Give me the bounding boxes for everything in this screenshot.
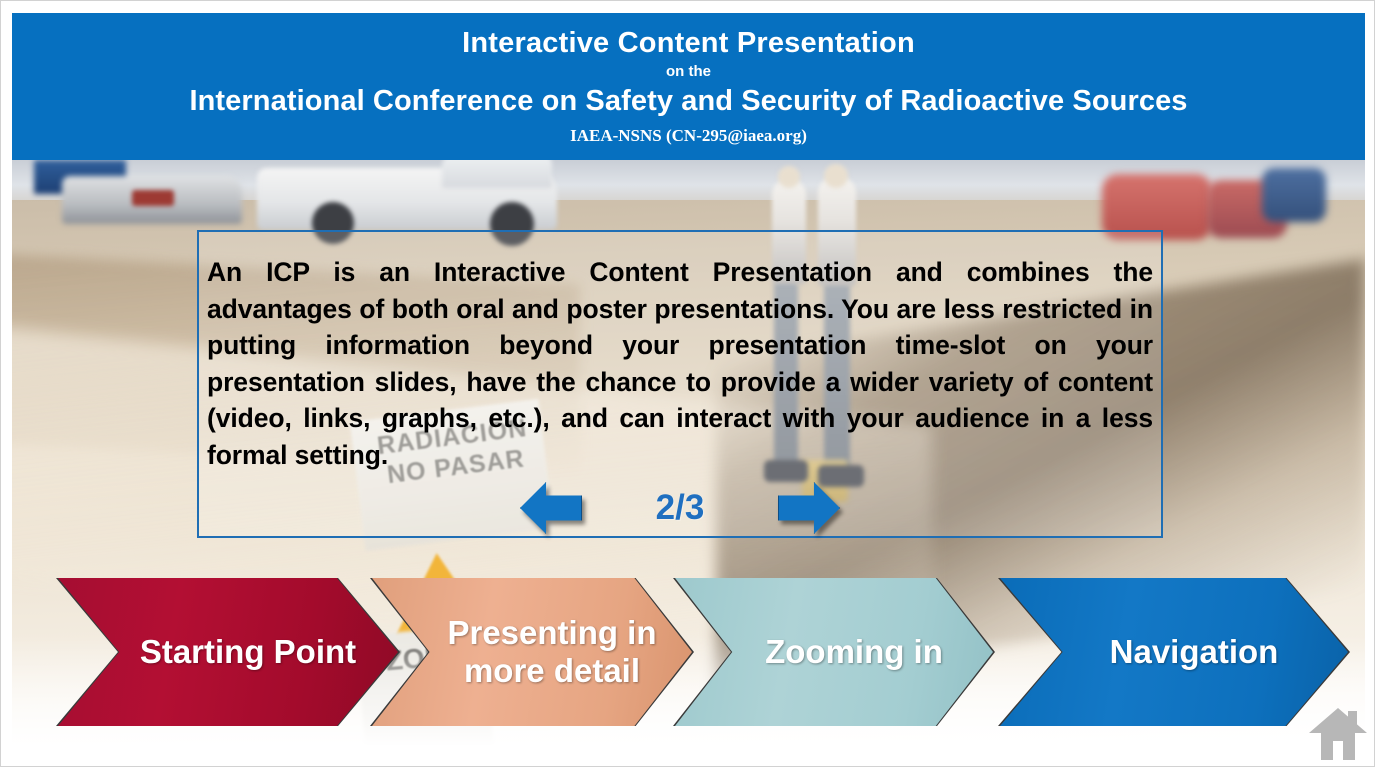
step-label-3: Zooming in <box>675 633 993 671</box>
photo-truck-cab <box>442 160 552 188</box>
step-zooming-in[interactable]: Zooming in <box>675 578 993 726</box>
slide-header: Interactive Content Presentation on the … <box>12 13 1365 160</box>
content-body-text: An ICP is an Interactive Content Present… <box>207 254 1153 473</box>
step-label-1: Starting Point <box>58 633 398 671</box>
step-navigation[interactable]: Navigation <box>1000 578 1348 726</box>
step-starting-point[interactable]: Starting Point <box>58 578 398 726</box>
photo-figure-blue <box>1262 168 1326 222</box>
navigation-controls: 2/3 <box>520 478 840 538</box>
step-navigation-bar: Starting Point Presenting in more detail… <box>0 578 1377 728</box>
step-presenting-in-more-detail[interactable]: Presenting in more detail <box>372 578 692 726</box>
home-icon[interactable] <box>1307 705 1369 760</box>
home-icon-glyph <box>1307 705 1369 760</box>
step-label-2: Presenting in more detail <box>372 614 692 690</box>
previous-arrow-button[interactable] <box>520 482 582 534</box>
header-contact: IAEA-NSNS (CN-295@iaea.org) <box>12 125 1365 146</box>
photo-vehicle-taillight <box>132 190 174 206</box>
presentation-slide: RADIACION NO PASAR ZONA RO Interactive C… <box>0 0 1377 769</box>
page-counter: 2/3 <box>625 482 735 534</box>
left-arrow-icon <box>520 482 582 534</box>
header-connector: on the <box>12 63 1365 81</box>
photo-worker-head-left <box>778 166 800 188</box>
step-label-4: Navigation <box>1000 633 1348 671</box>
header-title: Interactive Content Presentation <box>12 26 1365 60</box>
header-subtitle: International Conference on Safety and S… <box>12 83 1365 119</box>
next-arrow-button[interactable] <box>778 482 840 534</box>
right-arrow-icon <box>778 482 840 534</box>
photo-worker-head-right <box>824 164 848 188</box>
